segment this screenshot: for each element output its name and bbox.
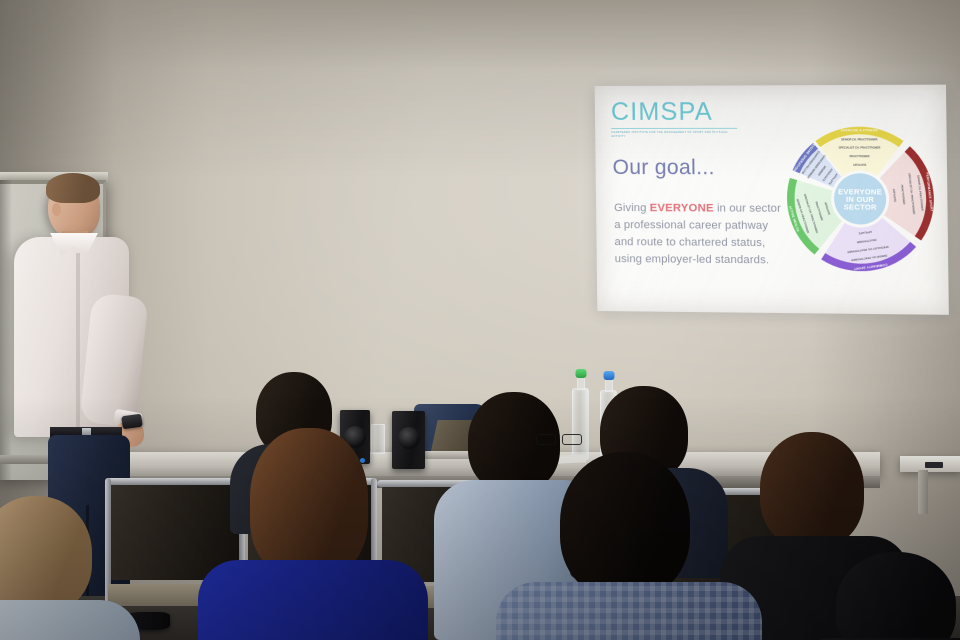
slide-title: Our goal... — [612, 156, 714, 180]
conference-room-photo: CIMSPA CHARTERED INSTITUTE FOR THE MANAG… — [0, 0, 960, 640]
napkin — [556, 454, 586, 464]
attendee-shoulders — [0, 600, 140, 640]
cimspa-logo: CIMSPA CHARTERED INSTITUTE FOR THE MANAG… — [611, 100, 738, 139]
presenter-ear — [52, 203, 61, 216]
bottle-neck — [577, 376, 585, 390]
wheel-tier-label: PRACTITIONER — [850, 154, 870, 158]
hub-line-3: SECTOR — [844, 202, 878, 211]
wheel-segment-label-exercise-and-fitness: EXERCISE & FITNESS — [841, 128, 878, 132]
attendee-shoulders — [198, 560, 428, 640]
water-glass — [371, 424, 385, 454]
wheel-tier-label: SENIOR CH. PRACTITIONER — [841, 137, 877, 141]
chair-frame-top — [105, 478, 245, 485]
bottle-cap-green — [575, 369, 586, 378]
slide-body-text: Giving EVERYONE in our sector a professi… — [614, 200, 782, 269]
career-pathway-wheel: SENIOR CH. PRACTITIONERSPECIALIST CH. PR… — [783, 107, 938, 291]
speaker-cone — [398, 427, 420, 449]
presenter-hair — [46, 173, 100, 203]
cimspa-logo-subtitle: CHARTERED INSTITUTE FOR THE MANAGEMENT O… — [611, 131, 737, 139]
presenter-arm — [79, 292, 148, 427]
body-text-before: Giving — [614, 202, 650, 214]
presenter-shirt-placket — [76, 253, 80, 428]
wheel-tier-label: AFFILIATE — [853, 163, 867, 167]
side-table-leg — [918, 470, 928, 514]
attendee-head — [760, 432, 864, 548]
projected-slide: CIMSPA CHARTERED INSTITUTE FOR THE MANAG… — [595, 85, 949, 315]
wheel-tier-label: SPECIALIST CH. PRACTITIONER — [839, 146, 881, 150]
speaker-right — [392, 411, 425, 469]
bottle-cap-blue — [603, 371, 614, 380]
eyeglasses-icon — [536, 434, 582, 443]
logo-divider — [611, 128, 737, 129]
water-bottle-green — [572, 388, 589, 460]
bottle-neck — [605, 378, 613, 392]
attendee-hair — [250, 428, 368, 578]
attendee-shoulders — [496, 582, 762, 640]
attendee-head — [560, 452, 690, 598]
cimspa-wordmark: CIMSPA — [611, 100, 737, 125]
presentation-clicker — [121, 414, 143, 430]
body-text-highlight: EVERYONE — [650, 202, 714, 214]
side-table-remote — [925, 462, 943, 468]
